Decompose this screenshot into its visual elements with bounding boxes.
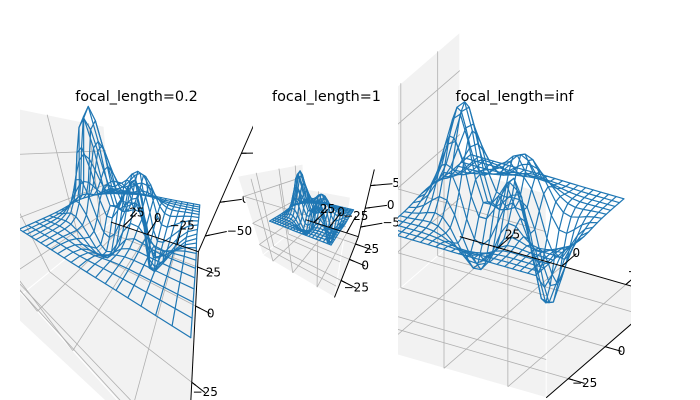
y-tick-label: 0	[573, 246, 581, 260]
subplot-title-2: focal_length=inf	[398, 89, 631, 105]
y-tick-label: 25	[129, 205, 144, 219]
y-tick-label: 0	[337, 205, 345, 219]
x-tick-label: −25	[344, 281, 369, 295]
subplot-2: −25025−25025−50050focal_length=inf	[398, 0, 631, 400]
x-tick-label: 25	[364, 242, 379, 256]
x-tick-label: 0	[361, 258, 369, 272]
y-tick-label: −25	[628, 265, 631, 279]
z-tick-label: 0	[387, 198, 395, 212]
y-tick-label: 25	[505, 228, 520, 242]
axes3d-2: −25025−25025−50050	[398, 0, 631, 400]
matplotlib-figure: −25025−25025−50050focal_length=0.2−25025…	[0, 0, 700, 400]
x-tick-label: 0	[618, 344, 626, 358]
y-tick-label: −25	[169, 219, 194, 233]
y-tick-label: −25	[343, 209, 368, 223]
x-tick-label: −25	[572, 376, 597, 390]
y-tick-label: 25	[320, 202, 335, 216]
y-tick-label: 0	[154, 211, 162, 225]
